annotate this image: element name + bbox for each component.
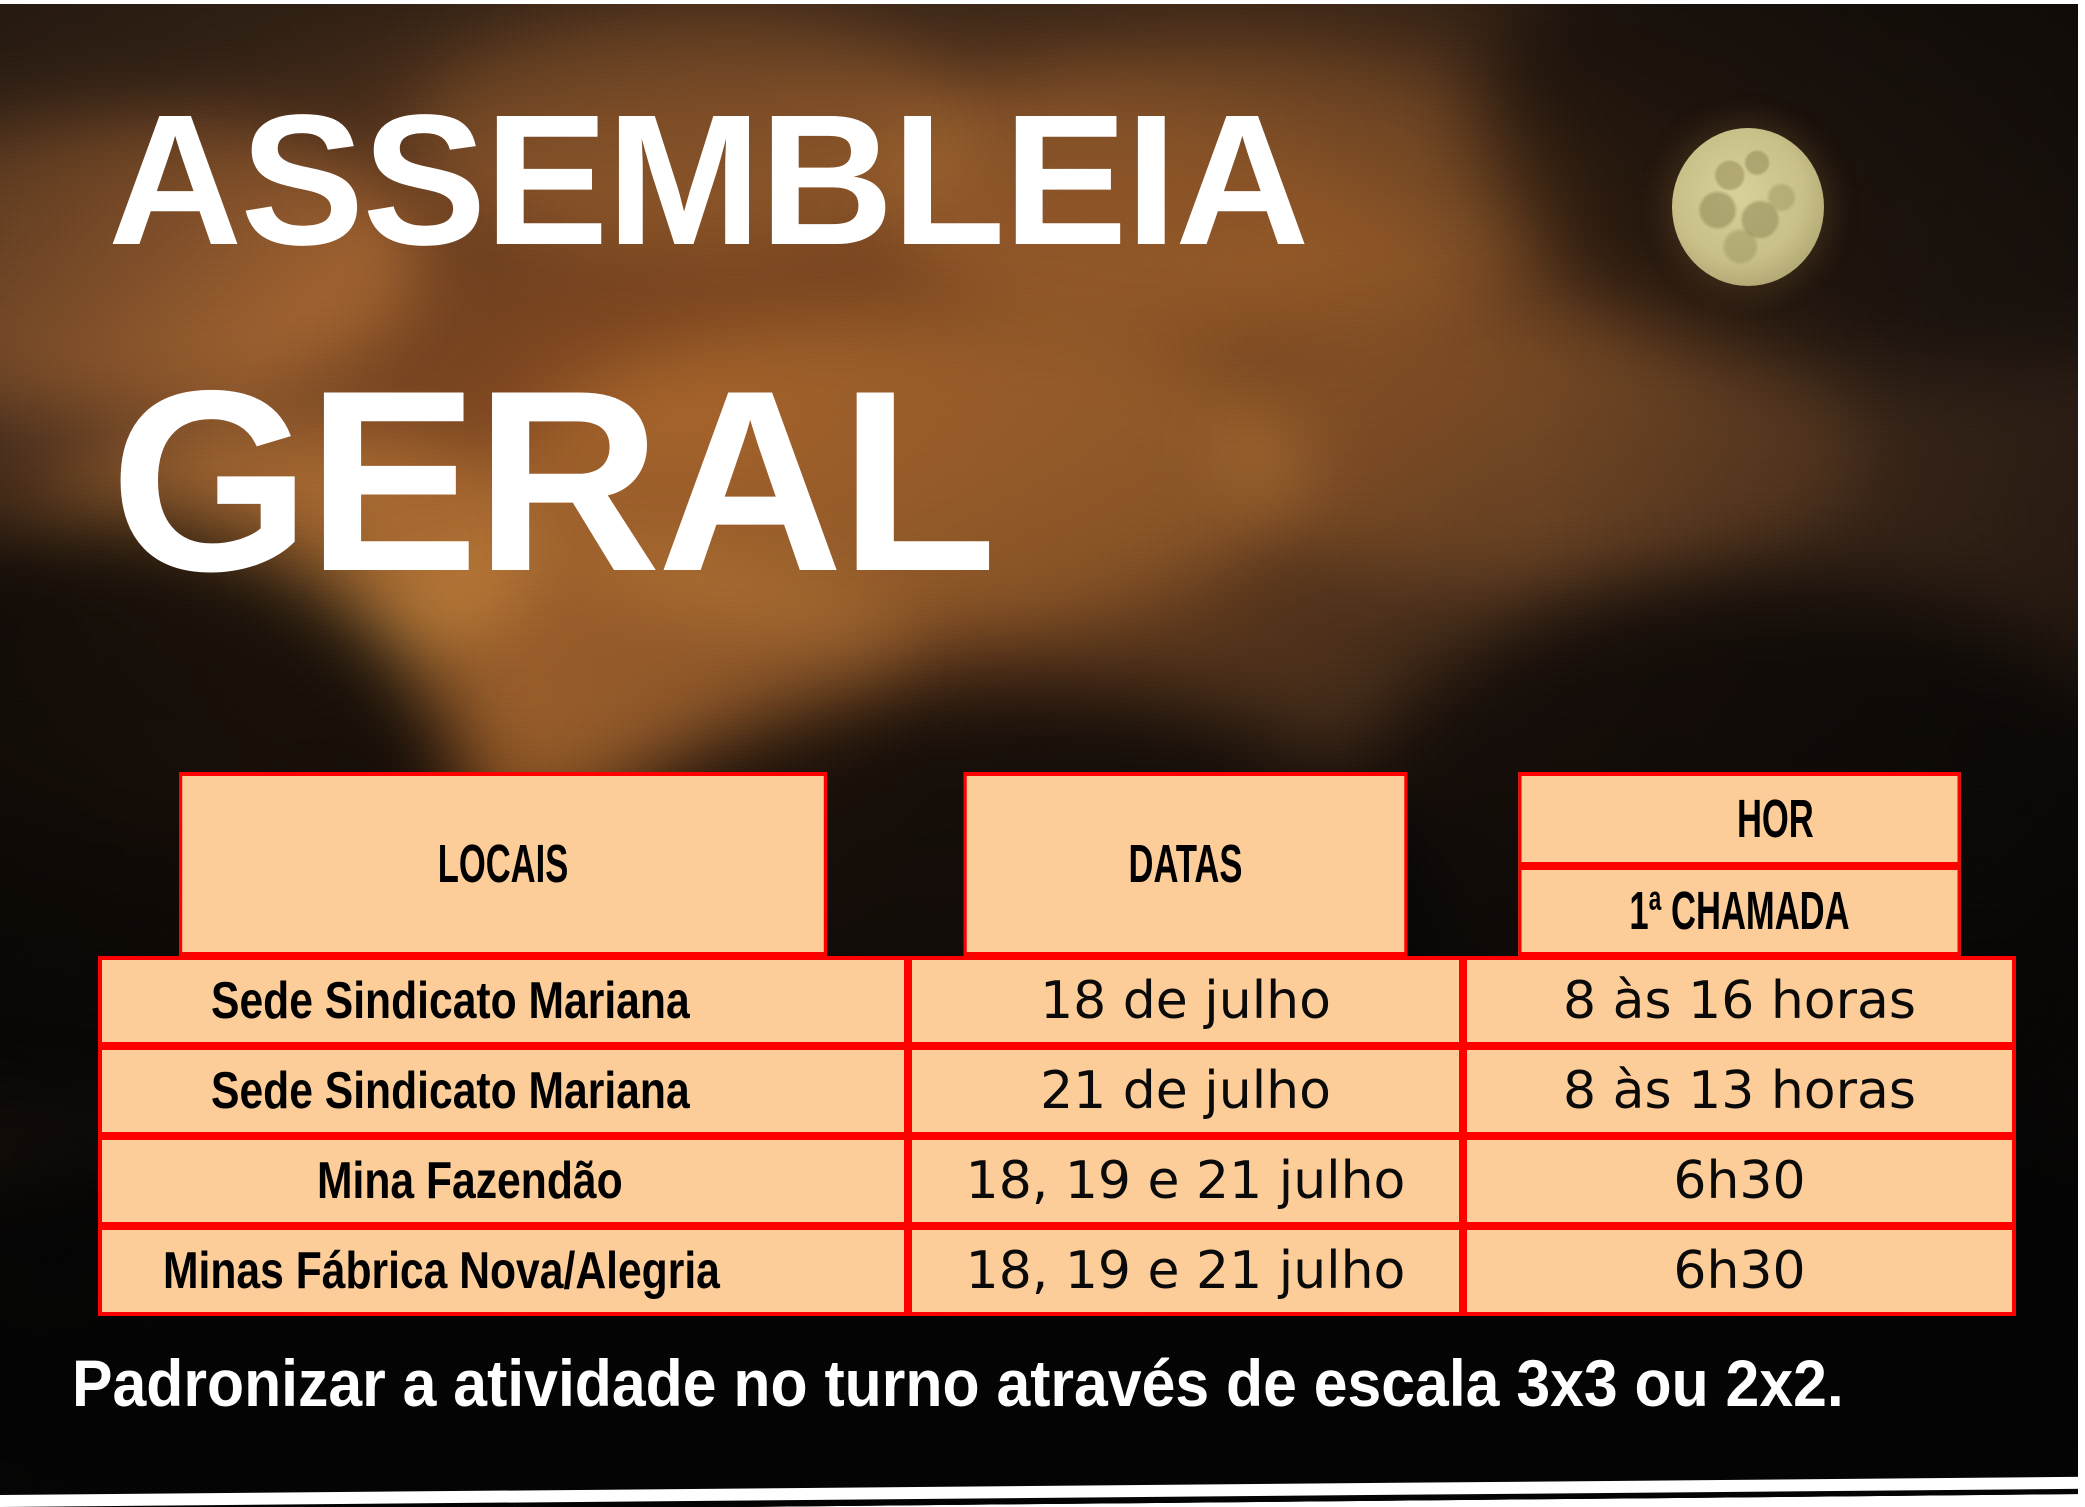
cell-local: Mina Fazendão — [98, 1136, 908, 1226]
column-header-primeira-chamada: 1ª CHAMADA — [1518, 866, 1960, 956]
cell-local: Sede Sindicato Mariana — [98, 1046, 908, 1136]
table-header: LOCAIS DATAS HOR 1ª CHAMADA — [98, 772, 2016, 956]
table-body: Sede Sindicato Mariana 18 de julho 8 às … — [98, 956, 2016, 1316]
cell-data: 18, 19 e 21 julho — [908, 1136, 1463, 1226]
cell-local: Sede Sindicato Mariana — [98, 956, 908, 1046]
table-row: Sede Sindicato Mariana 18 de julho 8 às … — [98, 956, 2016, 1046]
table-header-row-1: LOCAIS DATAS HOR — [98, 772, 2016, 866]
page-title-line-2: GERAL — [110, 352, 993, 610]
cell-chamada: 6h30 — [1463, 1226, 2016, 1316]
cell-data: 18 de julho — [908, 956, 1463, 1046]
table-row: Mina Fazendão 18, 19 e 21 julho 6h30 — [98, 1136, 2016, 1226]
column-header-locais: LOCAIS — [179, 772, 827, 956]
page-title-line-1: ASSEMBLEIA — [108, 88, 1307, 274]
cell-data: 21 de julho — [908, 1046, 1463, 1136]
cell-chamada: 6h30 — [1463, 1136, 2016, 1226]
scan-edge-right — [2078, 0, 2085, 1507]
cell-chamada: 8 às 13 horas — [1463, 1046, 2016, 1136]
cell-data: 18, 19 e 21 julho — [908, 1226, 1463, 1316]
table-row: Minas Fábrica Nova/Alegria 18, 19 e 21 j… — [98, 1226, 2016, 1316]
column-header-horarios: HOR — [1518, 772, 1960, 866]
poster-canvas: ASSEMBLEIA GERAL LOCAIS DATAS HOR — [0, 0, 2085, 1507]
cell-chamada: 8 às 16 horas — [1463, 956, 2016, 1046]
cell-local: Minas Fábrica Nova/Alegria — [98, 1226, 908, 1316]
footer-note: Padronizar a atividade no turno através … — [72, 1345, 2032, 1421]
column-header-datas: DATAS — [964, 772, 1408, 956]
full-moon-icon — [1672, 128, 1824, 286]
table-row: Sede Sindicato Mariana 21 de julho 8 às … — [98, 1046, 2016, 1136]
assembly-schedule-table: LOCAIS DATAS HOR 1ª CHAMADA Sede Sindica… — [98, 772, 2016, 1316]
scan-edge-top — [0, 0, 2085, 4]
